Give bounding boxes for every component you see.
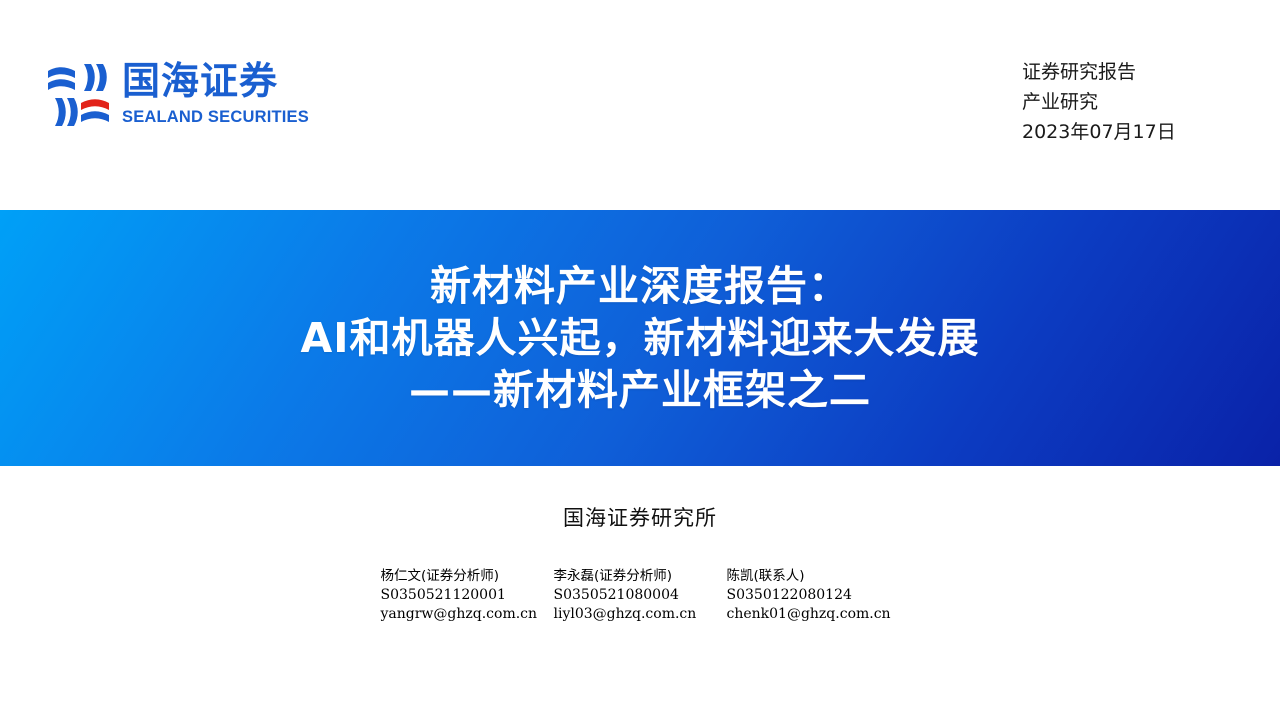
- analyst-entry: 杨仁文(证券分析师) S0350521120001 yangrw@ghzq.co…: [381, 567, 554, 624]
- analyst-entry: 陈凯(联系人) S0350122080124 chenk01@ghzq.com.…: [727, 567, 900, 624]
- analyst-email[interactable]: chenk01@ghzq.com.cn: [727, 605, 900, 624]
- sealand-pinwheel-logo-icon: [46, 58, 114, 134]
- analyst-name: 李永磊(证券分析师): [554, 567, 727, 586]
- brand-name-cn: 国海证券: [122, 60, 309, 104]
- report-title-line-2: AI和机器人兴起，新材料迎来大发展: [301, 312, 980, 364]
- report-date-label: 2023年07月17日: [1022, 117, 1242, 147]
- analyst-email[interactable]: yangrw@ghzq.com.cn: [381, 605, 554, 624]
- analyst-license-code: S0350122080124: [727, 586, 900, 605]
- report-category-label: 产业研究: [1022, 87, 1242, 117]
- brand-logo: 国海证券 SEALAND SECURITIES: [46, 58, 309, 134]
- report-meta: 证券研究报告 产业研究 2023年07月17日: [1022, 57, 1242, 147]
- page-header: 国海证券 SEALAND SECURITIES 证券研究报告 产业研究 2023…: [0, 0, 1280, 210]
- research-institute-label: 国海证券研究所: [0, 502, 1280, 532]
- title-banner: 新材料产业深度报告： AI和机器人兴起，新材料迎来大发展 ——新材料产业框架之二: [0, 210, 1280, 466]
- report-title-line-1: 新材料产业深度报告：: [430, 260, 850, 312]
- report-type-label: 证券研究报告: [1022, 57, 1242, 87]
- page-footer: 国海证券研究所 杨仁文(证券分析师) S0350521120001 yangrw…: [0, 466, 1280, 720]
- analyst-entry: 李永磊(证券分析师) S0350521080004 liyl03@ghzq.co…: [554, 567, 727, 624]
- analyst-license-code: S0350521120001: [381, 586, 554, 605]
- analyst-name: 陈凯(联系人): [727, 567, 900, 586]
- brand-name-en: SEALAND SECURITIES: [122, 107, 309, 127]
- brand-logo-text: 国海证券 SEALAND SECURITIES: [122, 58, 309, 127]
- analyst-name: 杨仁文(证券分析师): [381, 567, 554, 586]
- analyst-license-code: S0350521080004: [554, 586, 727, 605]
- analyst-list: 杨仁文(证券分析师) S0350521120001 yangrw@ghzq.co…: [0, 567, 1280, 624]
- report-title-line-3: ——新材料产业框架之二: [409, 364, 871, 416]
- analyst-email[interactable]: liyl03@ghzq.com.cn: [554, 605, 727, 624]
